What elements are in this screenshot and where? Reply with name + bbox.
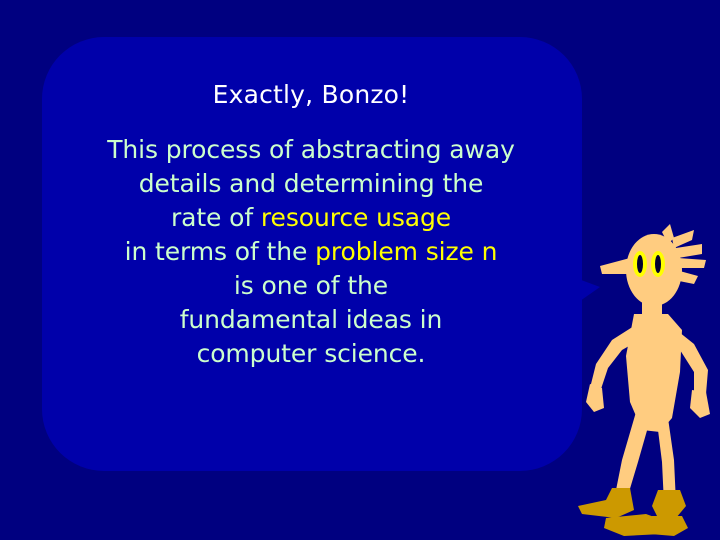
body-text-run: is one of the — [234, 271, 388, 300]
balloon-body-line: details and determining the — [56, 171, 566, 196]
balloon-body-line: fundamental ideas in — [56, 307, 566, 332]
balloon-body-line: This process of abstracting away — [56, 137, 566, 162]
body-text-run: computer science. — [197, 339, 426, 368]
body-text-run: details and determining the — [139, 169, 484, 198]
balloon-body-line: computer science. — [56, 341, 566, 366]
body-text-run: rate of — [171, 203, 261, 232]
slide-canvas: Exactly, Bonzo! This process of abstract… — [0, 0, 720, 540]
highlighted-phrase: problem size n — [315, 237, 497, 266]
balloon-body-lines: This process of abstracting awaydetails … — [56, 137, 566, 366]
character-bonzo-drawing — [576, 222, 720, 540]
body-text-run: fundamental ideas in — [180, 305, 443, 334]
balloon-body-line: rate of resource usage — [56, 205, 566, 230]
shoes — [578, 488, 688, 536]
balloon-title: Exactly, Bonzo! — [56, 82, 566, 107]
highlighted-phrase: resource usage — [261, 203, 451, 232]
character-bonzo — [576, 222, 720, 540]
body-text-run: in terms of the — [125, 237, 316, 266]
body-text-run: This process of abstracting away — [107, 135, 515, 164]
balloon-text-block: Exactly, Bonzo! This process of abstract… — [56, 82, 566, 375]
title-body-spacer — [56, 113, 566, 137]
balloon-body-line: is one of the — [56, 273, 566, 298]
balloon-body-line: in terms of the problem size n — [56, 239, 566, 264]
